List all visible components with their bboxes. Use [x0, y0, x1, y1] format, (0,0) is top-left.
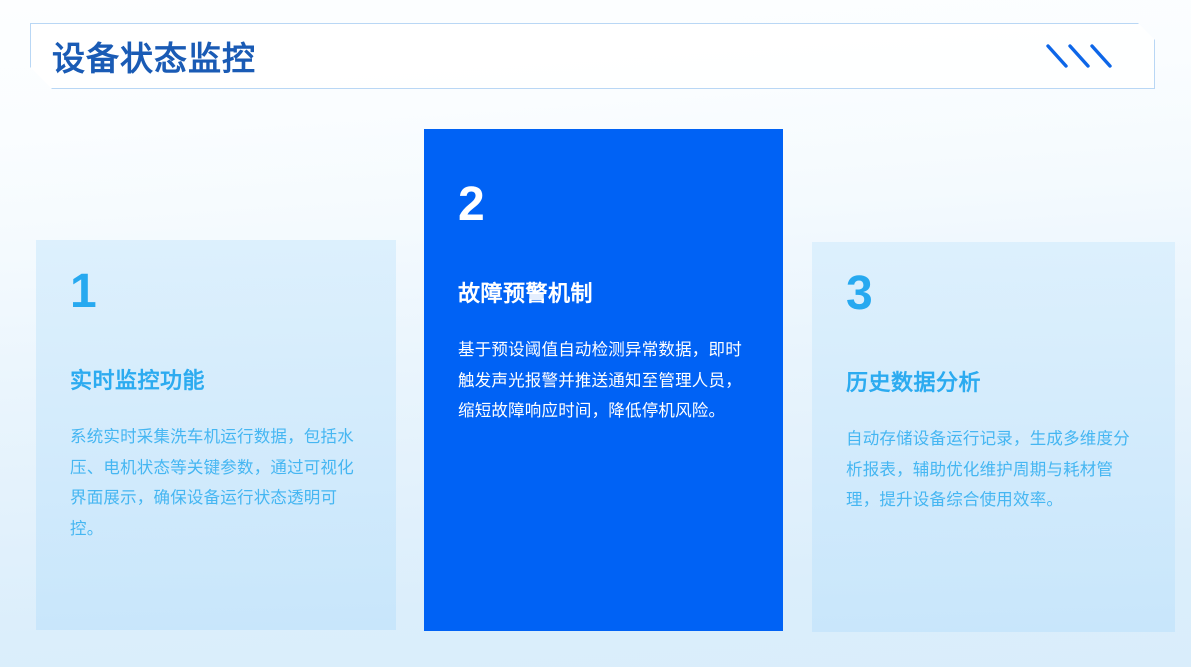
feature-card-2[interactable]: 2 故障预警机制 基于预设阈值自动检测异常数据，即时触发声光报警并推送通知至管理…: [424, 129, 783, 631]
feature-card-1-number: 1: [70, 268, 362, 316]
feature-card-1-title: 实时监控功能: [70, 368, 362, 394]
feature-card-1-description: 系统实时采集洗车机运行数据，包括水压、电机状态等关键参数，通过可视化界面展示，确…: [70, 422, 362, 544]
feature-card-3[interactable]: 3 历史数据分析 自动存储设备运行记录，生成多维度分析报表，辅助优化维护周期与耗…: [812, 242, 1175, 632]
feature-card-1-content: 1 实时监控功能 系统实时采集洗车机运行数据，包括水压、电机状态等关键参数，通过…: [36, 268, 396, 544]
feature-card-2-description: 基于预设阈值自动检测异常数据，即时触发声光报警并推送通知至管理人员，缩短故障响应…: [458, 335, 749, 427]
page-title: 设备状态监控: [52, 32, 256, 80]
feature-card-2-content: 2 故障预警机制 基于预设阈值自动检测异常数据，即时触发声光报警并推送通知至管理…: [424, 181, 783, 427]
feature-card-3-number: 3: [846, 270, 1141, 318]
feature-card-3-title: 历史数据分析: [846, 370, 1141, 396]
header-content: 设备状态监控: [30, 23, 1155, 89]
feature-card-2-title: 故障预警机制: [458, 281, 749, 307]
feature-card-3-content: 3 历史数据分析 自动存储设备运行记录，生成多维度分析报表，辅助优化维护周期与耗…: [812, 270, 1175, 516]
diagonal-slashes-icon: [1045, 43, 1115, 69]
feature-card-2-number: 2: [458, 181, 749, 229]
feature-card-1[interactable]: 1 实时监控功能 系统实时采集洗车机运行数据，包括水压、电机状态等关键参数，通过…: [36, 240, 396, 630]
feature-card-3-description: 自动存储设备运行记录，生成多维度分析报表，辅助优化维护周期与耗材管理，提升设备综…: [846, 424, 1141, 516]
